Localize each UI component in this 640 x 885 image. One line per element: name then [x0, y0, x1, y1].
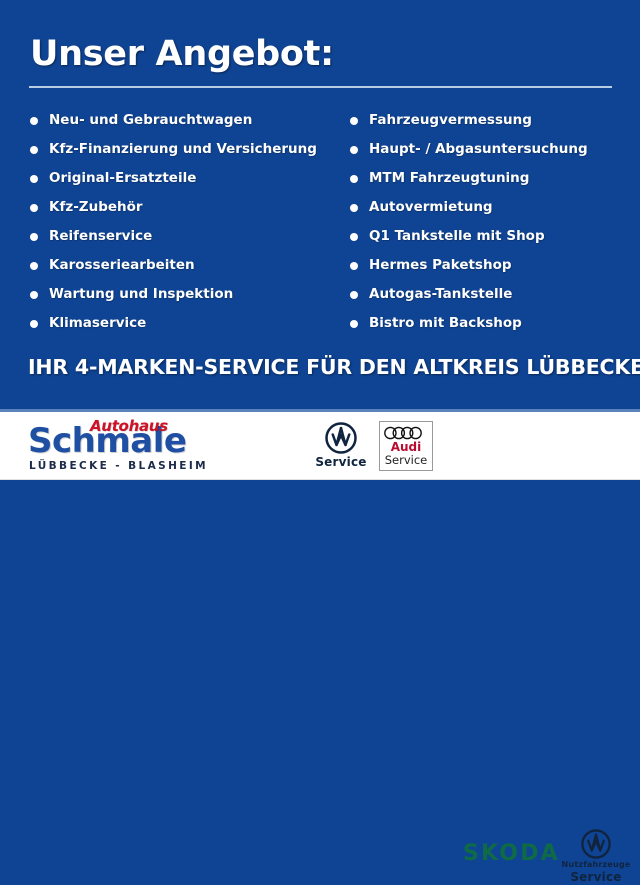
bullet-icon	[30, 262, 38, 270]
services-left-column: Neu- und Gebrauchtwagen Kfz-Finanzierung…	[30, 106, 340, 338]
volkswagen-icon	[325, 422, 357, 454]
bullet-icon	[30, 291, 38, 299]
vw-nutzfahrzeuge-service-logo: Nutzfahrzeuge Service	[560, 829, 632, 885]
audi-rings-icon	[384, 426, 428, 440]
list-item: Hermes Paketshop	[350, 251, 640, 280]
bullet-icon	[350, 204, 358, 212]
list-item-label: Original-Ersatzteile	[49, 170, 196, 186]
audi-service-label: Service	[380, 454, 432, 467]
vwn-line1: Nutzfahrzeuge	[560, 860, 632, 870]
list-item-label: MTM Fahrzeugtuning	[369, 170, 529, 186]
vw-service-label: Service	[305, 455, 377, 469]
list-item: Bistro mit Backshop	[350, 309, 640, 338]
bullet-icon	[350, 146, 358, 154]
list-item-label: Autogas-Tankstelle	[369, 286, 512, 302]
volkswagen-icon	[581, 829, 611, 859]
bullet-icon	[30, 175, 38, 183]
list-item-label: Autovermietung	[369, 199, 493, 215]
list-item-label: Q1 Tankstelle mit Shop	[369, 228, 545, 244]
list-item-label: Karosseriearbeiten	[49, 257, 195, 273]
services-section: Neu- und Gebrauchtwagen Kfz-Finanzierung…	[0, 106, 640, 336]
services-right-column: Fahrzeugvermessung Haupt- / Abgasuntersu…	[350, 106, 640, 338]
dealer-prefix: Autohaus	[90, 419, 168, 434]
vwn-line2: Service	[560, 870, 632, 884]
bullet-icon	[350, 291, 358, 299]
list-item-label: Hermes Paketshop	[369, 257, 512, 273]
advertisement-banner: Unser Angebot: Neu- und Gebrauchtwagen K…	[0, 0, 640, 480]
list-item: Karosseriearbeiten	[30, 251, 340, 280]
bullet-icon	[30, 320, 38, 328]
list-item: Wartung und Inspektion	[30, 280, 340, 309]
page-title: Unser Angebot:	[30, 30, 334, 78]
bullet-icon	[30, 204, 38, 212]
list-item-label: Wartung und Inspektion	[49, 286, 233, 302]
list-item-label: Bistro mit Backshop	[369, 315, 522, 331]
vw-service-logo: Service	[305, 422, 377, 472]
headline-divider	[29, 86, 612, 88]
list-item-label: Reifenservice	[49, 228, 152, 244]
list-item-label: Kfz-Zubehör	[49, 199, 143, 215]
list-item: Original-Ersatzteile	[30, 164, 340, 193]
list-item-label: Haupt- / Abgasuntersuchung	[369, 141, 588, 157]
bullet-icon	[350, 233, 358, 241]
list-item: Fahrzeugvermessung	[350, 106, 640, 135]
list-item: Haupt- / Abgasuntersuchung	[350, 135, 640, 164]
bullet-icon	[30, 146, 38, 154]
list-item-label: Fahrzeugvermessung	[369, 112, 532, 128]
headline-section: Unser Angebot:	[0, 30, 640, 90]
dealer-logo: Schmale Autohaus LÜBBECKE - BLASHEIM	[28, 420, 213, 472]
bullet-icon	[350, 262, 358, 270]
bullet-icon	[30, 233, 38, 241]
list-item-label: Kfz-Finanzierung und Versicherung	[49, 141, 317, 157]
bullet-icon	[350, 175, 358, 183]
tagline: IHR 4-MARKEN-SERVICE FÜR DEN ALTKREIS LÜ…	[28, 355, 628, 379]
list-item: Neu- und Gebrauchtwagen	[30, 106, 340, 135]
list-item-label: Klimaservice	[49, 315, 146, 331]
skoda-logo: SKODA	[463, 842, 560, 866]
list-item: Kfz-Zubehör	[30, 193, 340, 222]
audi-service-logo: Audi Service	[379, 421, 433, 471]
bullet-icon	[350, 117, 358, 125]
bullet-icon	[30, 117, 38, 125]
list-item: Autovermietung	[350, 193, 640, 222]
list-item: Reifenservice	[30, 222, 340, 251]
dealer-locations: LÜBBECKE - BLASHEIM	[29, 461, 208, 472]
list-item: Autogas-Tankstelle	[350, 280, 640, 309]
list-item: Klimaservice	[30, 309, 340, 338]
bullet-icon	[350, 320, 358, 328]
list-item-label: Neu- und Gebrauchtwagen	[49, 112, 252, 128]
footer-logo-bar: Schmale Autohaus LÜBBECKE - BLASHEIM Ser…	[0, 412, 640, 480]
list-item: MTM Fahrzeugtuning	[350, 164, 640, 193]
list-item: Q1 Tankstelle mit Shop	[350, 222, 640, 251]
list-item: Kfz-Finanzierung und Versicherung	[30, 135, 340, 164]
